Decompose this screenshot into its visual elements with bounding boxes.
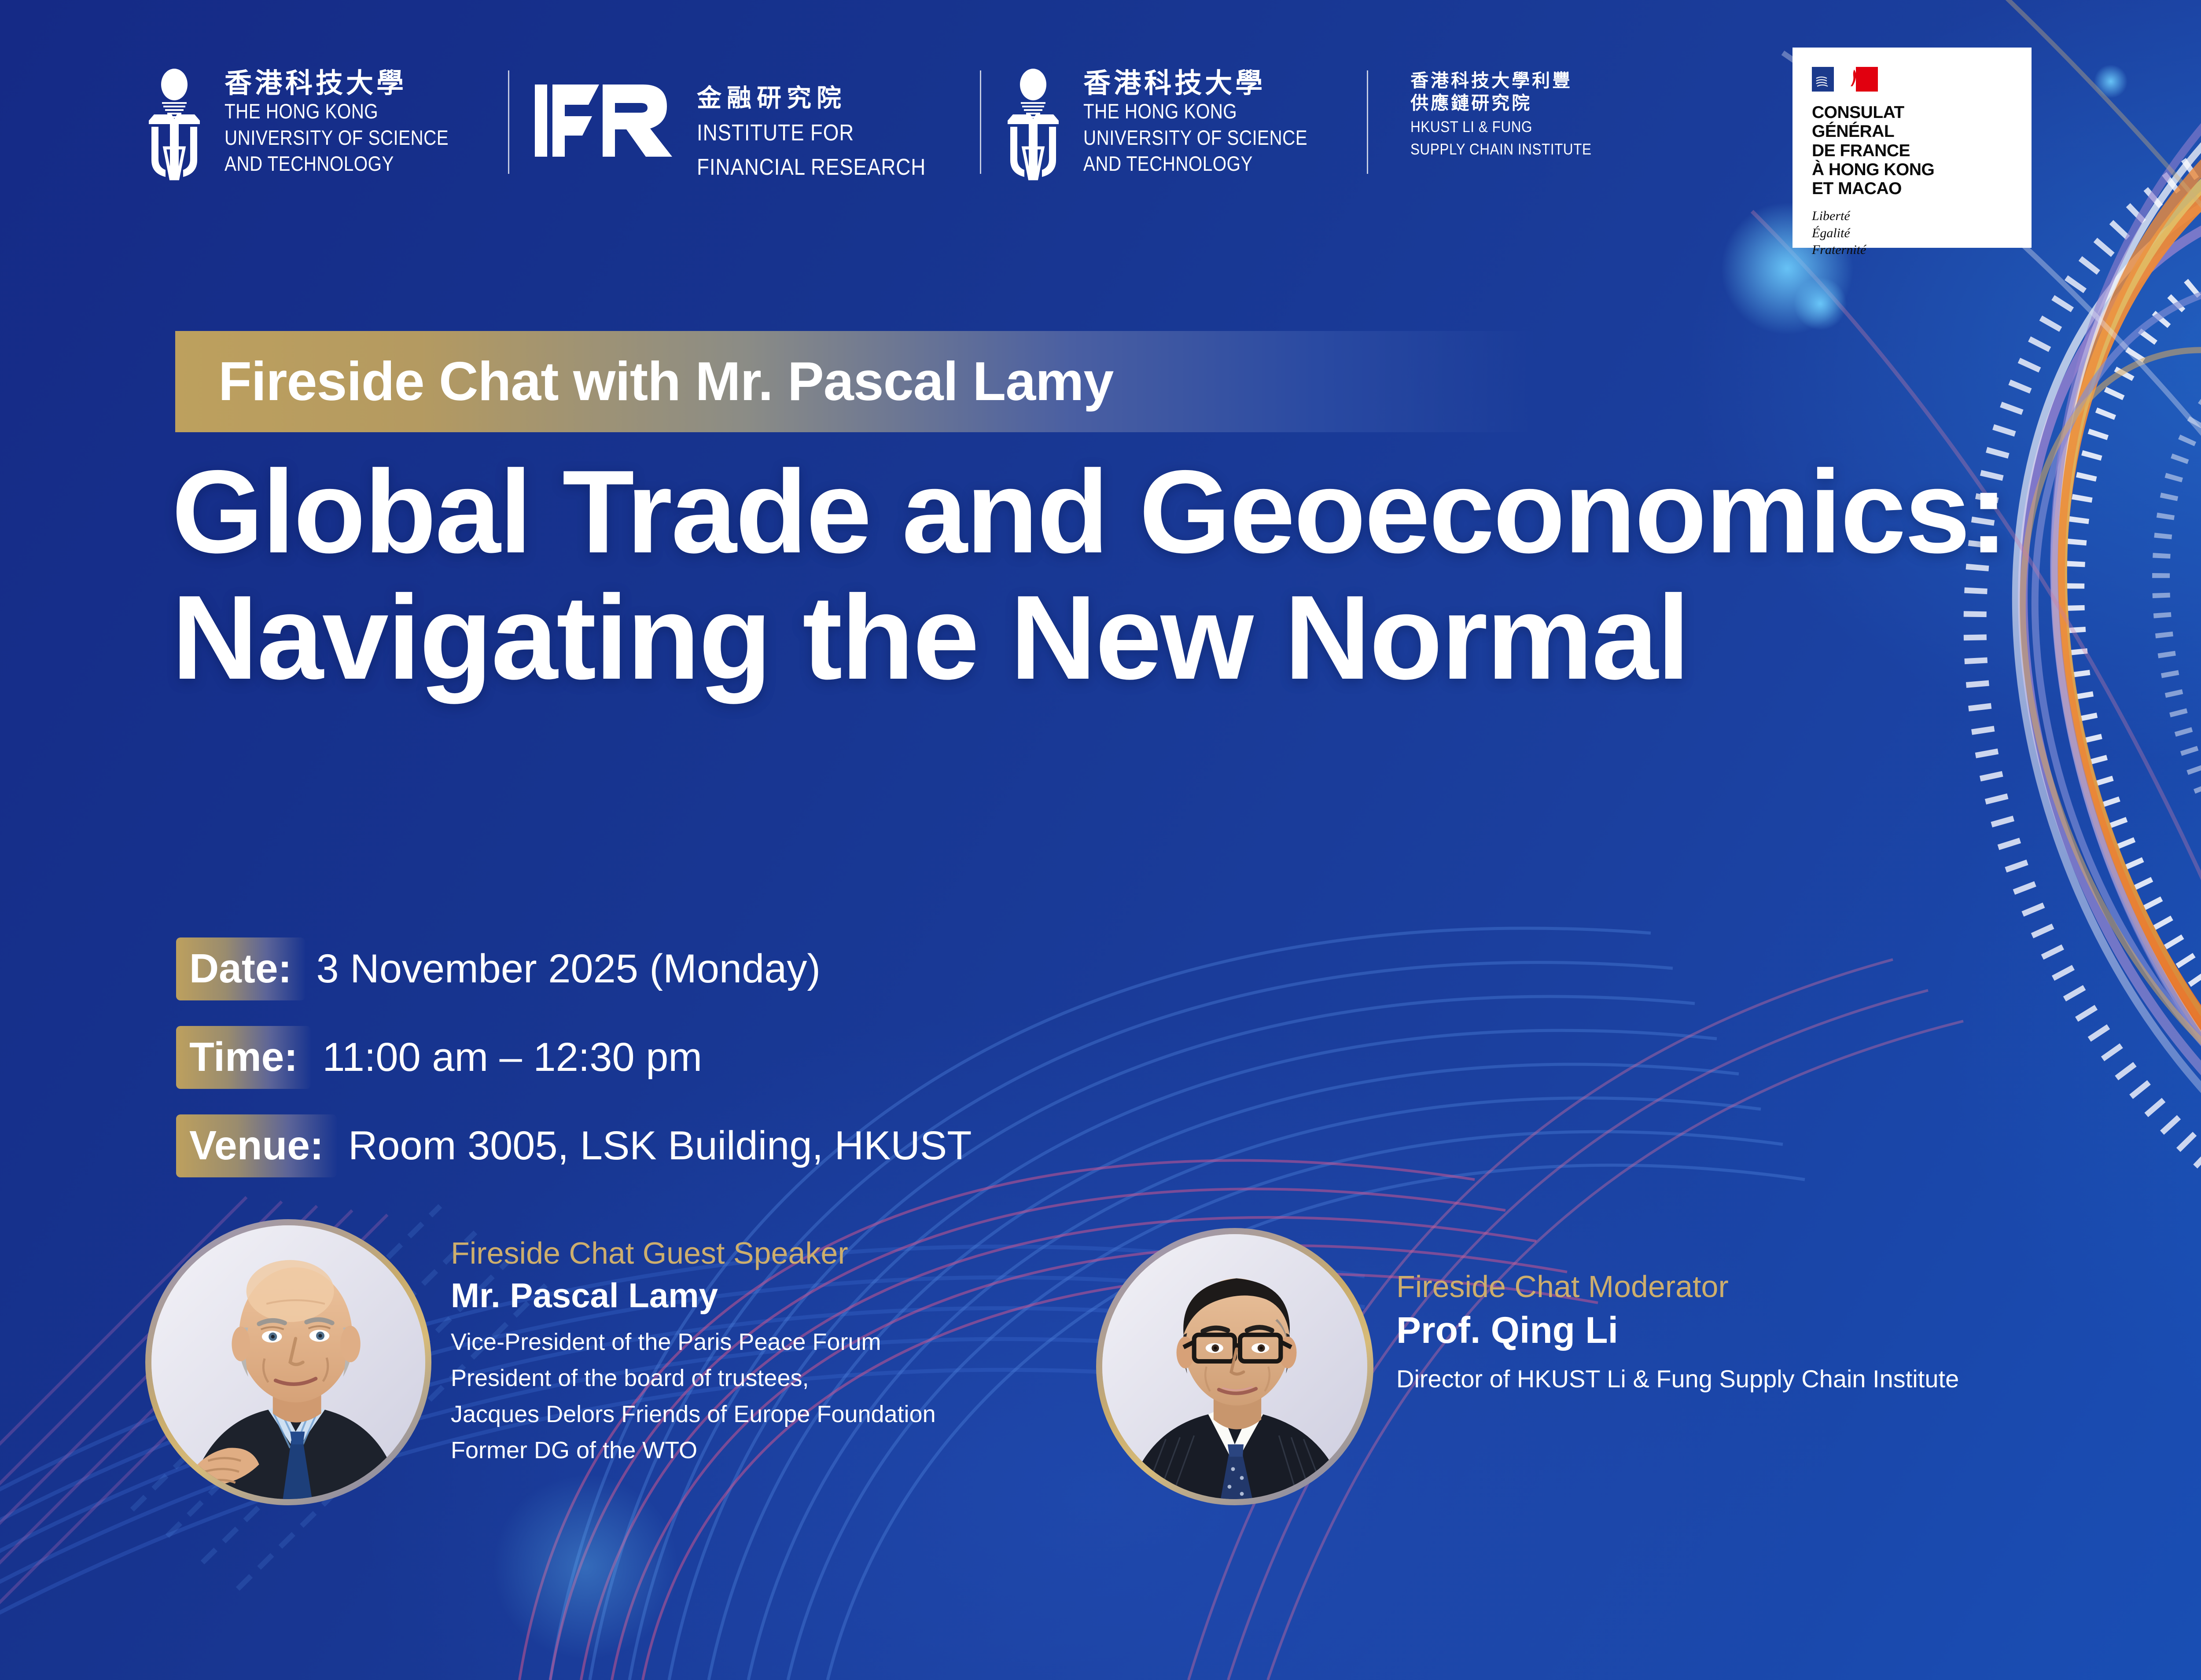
time-value: 11:00 am – 12:30 pm <box>322 1034 702 1081</box>
motto-liberte: Liberté <box>1812 208 2014 224</box>
hkust-secondary-cn-name: 香港科技大學 <box>1083 68 1344 98</box>
lifung-cn-line-2: 供應鏈研究院 <box>1410 92 1612 114</box>
hkust-emblem-icon <box>145 69 203 181</box>
portrait-qing-li <box>1102 1234 1367 1499</box>
portrait-pascal-lamy <box>151 1225 425 1499</box>
page-title: Global Trade and Geoeconomics: Navigatin… <box>172 449 2007 701</box>
hkust-secondary-en-line-3: AND TECHNOLOGY <box>1083 151 1307 176</box>
event-details: Date: 3 November 2025 (Monday) Time: 11:… <box>176 937 972 1203</box>
hkust-secondary-wordmark: 香港科技大學 THE HONG KONG UNIVERSITY OF SCIEN… <box>1083 65 1344 176</box>
lifung-institute-logo: 香港科技大學利豐 供應鏈研究院 HKUST LI & FUNG SUPPLY C… <box>1410 65 1612 160</box>
guest-speaker-title-3: Jacques Delors Friends of Europe Foundat… <box>451 1396 936 1432</box>
detail-row-time: Time: 11:00 am – 12:30 pm <box>176 1026 972 1089</box>
guest-speaker-title-1: Vice-President of the Paris Peace Forum <box>451 1324 936 1360</box>
moderator-role: Fireside Chat Moderator <box>1396 1271 1959 1302</box>
ifr-cn-name: 金融研究院 <box>697 78 957 114</box>
ifr-logo: 金融研究院 INSTITUTE FOR FINANCIAL RESEARCH <box>532 65 957 182</box>
hkust-logo: 香港科技大學 THE HONG KONG UNIVERSITY OF SCIEN… <box>145 65 485 181</box>
lifung-en-line-1: HKUST LI & FUNG <box>1410 117 1592 137</box>
logo-bar: 香港科技大學 THE HONG KONG UNIVERSITY OF SCIEN… <box>145 65 1612 182</box>
hkust-secondary-en-line-1: THE HONG KONG <box>1083 98 1307 124</box>
logo-divider-2 <box>980 70 981 174</box>
eyebrow-text: Fireside Chat with Mr. Pascal Lamy <box>218 350 1113 413</box>
moderator-block: Fireside Chat Moderator Prof. Qing Li Di… <box>1096 1228 1959 1505</box>
guest-speaker-title-4: Former DG of the WTO <box>451 1432 936 1468</box>
consulate-name-line-2: GÉNÉRAL <box>1812 122 2014 141</box>
consulate-name-line-1: CONSULAT <box>1812 103 2014 122</box>
avatar-qing-li <box>1096 1228 1373 1505</box>
ifr-en-line-2: FINANCIAL RESEARCH <box>697 153 926 183</box>
hkust-cn-name: 香港科技大學 <box>225 68 485 98</box>
motto-fraternite: Fraternité <box>1812 242 2014 258</box>
lifung-en-line-2: SUPPLY CHAIN INSTITUTE <box>1410 140 1592 160</box>
hkust-emblem-icon-secondary <box>1004 69 1062 181</box>
detail-row-date: Date: 3 November 2025 (Monday) <box>176 937 972 1000</box>
date-value: 3 November 2025 (Monday) <box>317 946 821 992</box>
french-flag-marianne-icon <box>1812 67 1878 92</box>
consulate-name-line-5: ET MACAO <box>1812 179 2014 198</box>
guest-speaker-block: Fireside Chat Guest Speaker Mr. Pascal L… <box>145 1219 936 1505</box>
lifung-cn-line-1: 香港科技大學利豐 <box>1410 70 1612 92</box>
french-consulate-logo: CONSULAT GÉNÉRAL DE FRANCE À HONG KONG E… <box>1792 48 2032 248</box>
hkust-en-line-3: AND TECHNOLOGY <box>225 151 449 176</box>
title-line-1: Global Trade and Geoeconomics: <box>172 449 2007 574</box>
hkust-en-line-2: UNIVERSITY OF SCIENCE <box>225 125 449 151</box>
date-label: Date: <box>176 937 305 1000</box>
avatar-pascal-lamy <box>145 1219 431 1505</box>
detail-row-venue: Venue: Room 3005, LSK Building, HKUST <box>176 1114 972 1177</box>
consulate-motto: Liberté Égalité Fraternité <box>1812 208 2014 258</box>
time-label: Time: <box>176 1026 311 1089</box>
motto-egalite: Égalité <box>1812 225 2014 242</box>
hkust-secondary-en-line-2: UNIVERSITY OF SCIENCE <box>1083 125 1307 151</box>
title-line-2: Navigating the New Normal <box>172 574 2007 701</box>
venue-label: Venue: <box>176 1114 337 1177</box>
guest-speaker-role: Fireside Chat Guest Speaker <box>451 1238 936 1268</box>
consulate-name-line-3: DE FRANCE <box>1812 141 2014 160</box>
consulate-name: CONSULAT GÉNÉRAL DE FRANCE À HONG KONG E… <box>1812 103 2014 198</box>
guest-speaker-text: Fireside Chat Guest Speaker Mr. Pascal L… <box>451 1219 936 1468</box>
ifr-monogram-icon <box>532 79 677 162</box>
moderator-title-1: Director of HKUST Li & Fung Supply Chain… <box>1396 1360 1959 1397</box>
guest-speaker-name: Mr. Pascal Lamy <box>451 1278 936 1312</box>
hkust-en-line-1: THE HONG KONG <box>225 98 449 124</box>
moderator-name: Prof. Qing Li <box>1396 1312 1959 1349</box>
event-poster: 香港科技大學 THE HONG KONG UNIVERSITY OF SCIEN… <box>0 0 2201 1680</box>
moderator-text: Fireside Chat Moderator Prof. Qing Li Di… <box>1396 1228 1959 1397</box>
ifr-wordmark: 金融研究院 INSTITUTE FOR FINANCIAL RESEARCH <box>697 65 957 182</box>
venue-value: Room 3005, LSK Building, HKUST <box>348 1123 972 1169</box>
eyebrow-banner: Fireside Chat with Mr. Pascal Lamy <box>175 331 1533 432</box>
logo-divider-3 <box>1367 70 1368 174</box>
hkust-logo-secondary: 香港科技大學 THE HONG KONG UNIVERSITY OF SCIEN… <box>1004 65 1344 181</box>
consulate-name-line-4: À HONG KONG <box>1812 160 2014 179</box>
ifr-en-line-1: INSTITUTE FOR <box>697 118 926 148</box>
guest-speaker-title-2: President of the board of trustees, <box>451 1360 936 1396</box>
logo-divider-1 <box>508 70 509 174</box>
hkust-wordmark: 香港科技大學 THE HONG KONG UNIVERSITY OF SCIEN… <box>225 65 485 176</box>
